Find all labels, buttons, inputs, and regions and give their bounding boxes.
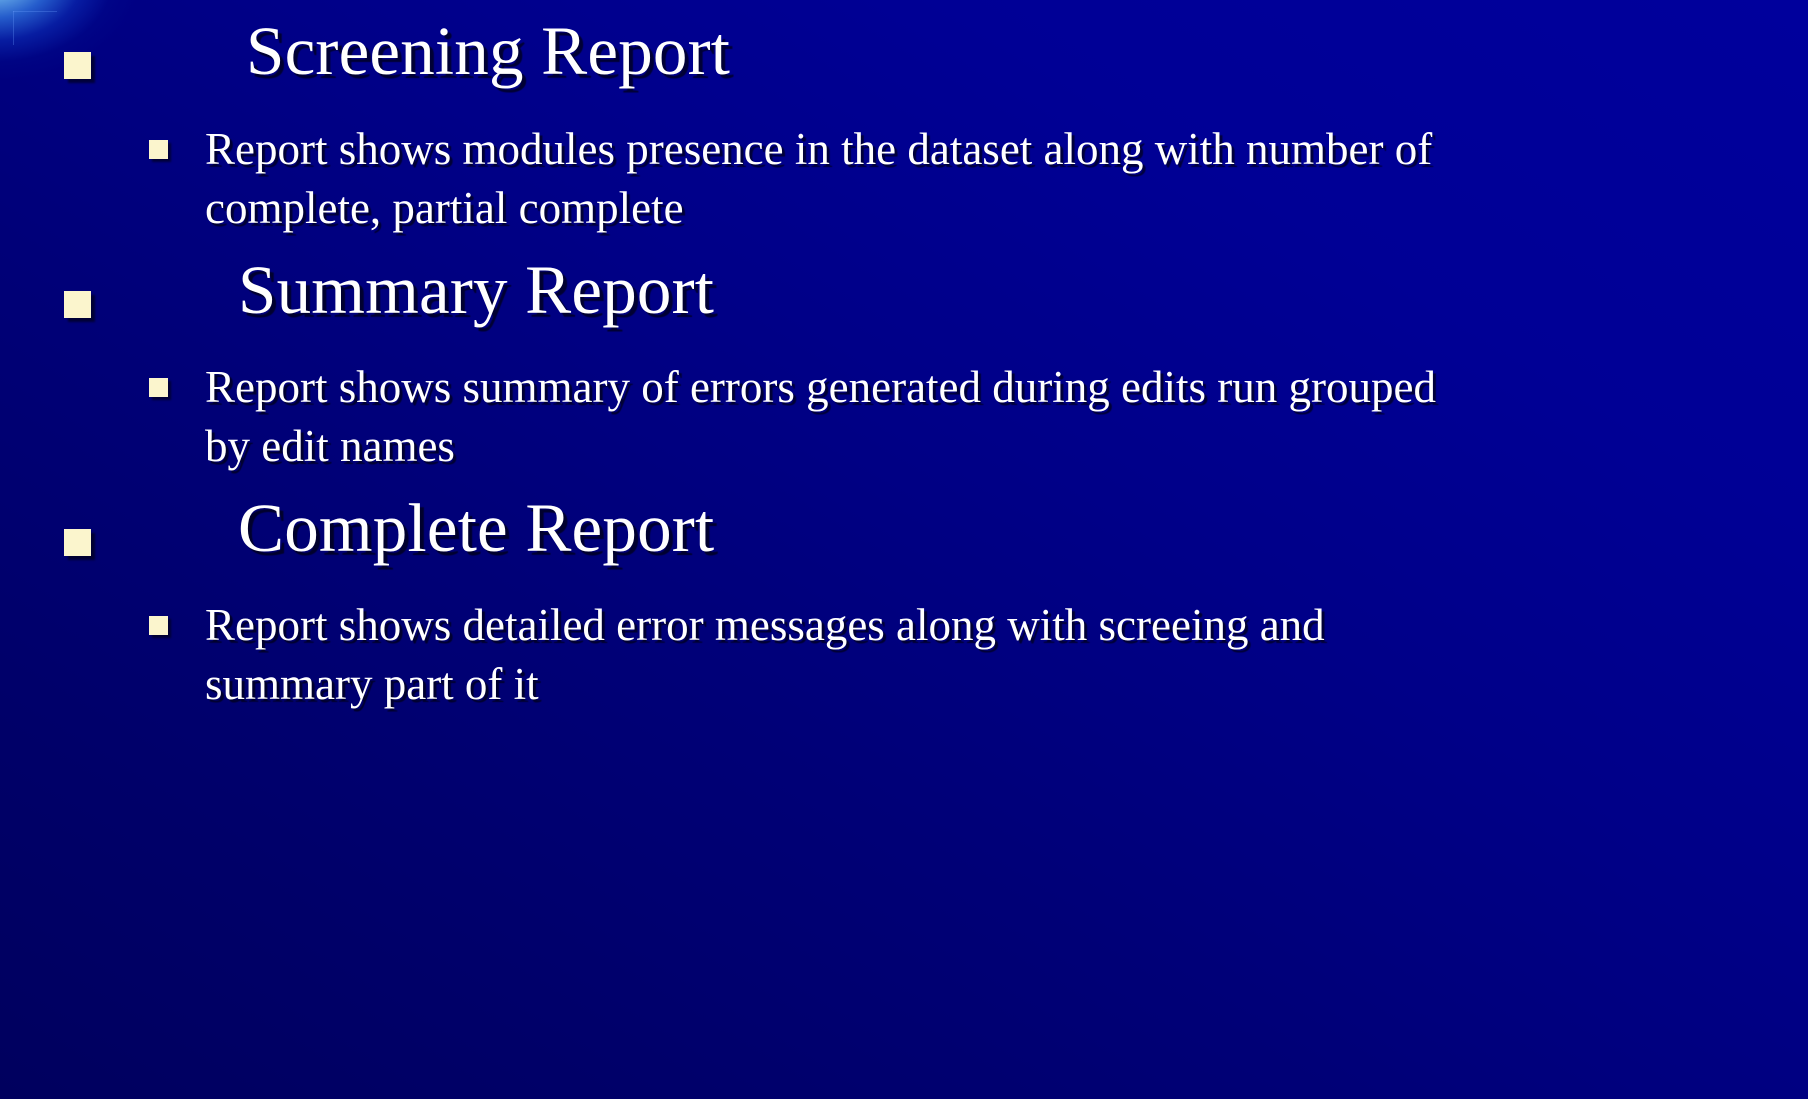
square-bullet-icon — [64, 291, 91, 318]
body-screening-report: Report shows modules presence in the dat… — [205, 120, 1478, 237]
body-block-screening: Report shows modules presence in the dat… — [0, 120, 1808, 237]
body-complete-report: Report shows detailed error messages alo… — [205, 596, 1438, 713]
square-subbullet-icon — [149, 616, 168, 635]
bullet-item-level2: Report shows detailed error messages alo… — [0, 596, 1808, 713]
slide-content: Screening Report Report shows modules pr… — [0, 0, 1808, 1099]
bullet-item-level1: Screening Report — [0, 17, 1808, 86]
bullet-item-level2: Report shows modules presence in the dat… — [0, 120, 1808, 237]
square-subbullet-icon — [149, 378, 168, 397]
heading-screening-report: Screening Report — [246, 17, 1808, 86]
bullet-item-level1: Complete Report — [0, 494, 1808, 563]
square-subbullet-icon — [149, 140, 168, 159]
bullet-item-level2: Report shows summary of errors generated… — [0, 358, 1808, 475]
body-block-summary: Report shows summary of errors generated… — [0, 358, 1808, 475]
heading-complete-report: Complete Report — [238, 494, 1808, 563]
heading-summary-report: Summary Report — [238, 256, 1808, 325]
body-block-complete: Report shows detailed error messages alo… — [0, 596, 1808, 713]
bullet-item-level1: Summary Report — [0, 256, 1808, 325]
square-bullet-icon — [64, 52, 91, 79]
heading-block-summary: Summary Report — [0, 256, 1808, 325]
body-summary-report: Report shows summary of errors generated… — [205, 358, 1478, 475]
heading-block-screening: Screening Report — [0, 17, 1808, 86]
heading-block-complete: Complete Report — [0, 494, 1808, 563]
square-bullet-icon — [64, 529, 91, 556]
presentation-slide: Screening Report Report shows modules pr… — [0, 0, 1808, 1099]
